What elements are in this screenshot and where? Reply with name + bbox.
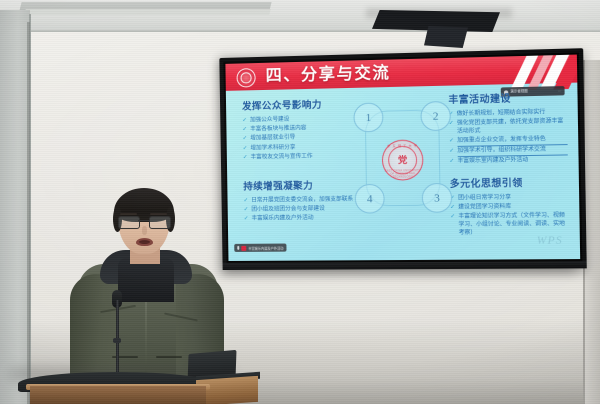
bullet-text: 加强公众号建设 [250, 115, 356, 125]
university-seal-icon [236, 68, 255, 88]
bullet-text: 增加学术科研分享 [250, 143, 356, 152]
bullet-text: 做好长期规划，短期结合实际实行 [457, 109, 568, 119]
bullet-item: ✓ 强化党团支部共建，依托党支部资源丰富活动形式 [449, 118, 568, 136]
column-title: 发挥公众号影响力 [242, 99, 356, 114]
bullet-item: ✓ 丰富校友交流与宣传工作 [243, 152, 356, 162]
eyeglass-lens-right [149, 216, 171, 229]
bullet-item: ✓ 丰富各板块与推送内容 [242, 125, 355, 135]
bullet-item: ✓ 加强学术引导，组织科研学术交流 [449, 146, 568, 157]
column-title: 多元化思想引领 [450, 177, 569, 191]
slide-column-top-right: 丰富活动建设 ✓ 做好长期规划，短期结合实际实行 ✓ 强化党团支部共建，依托党支… [448, 92, 568, 168]
presenter-nose [142, 226, 147, 235]
slide-column-bottom-left: 持续增强凝聚力 ✓ 日常开展党团支委交流会，加强支部联系 ✓ 团小组及班团分会与… [243, 180, 357, 225]
bullet-text: 团小组日常学习分享 [458, 194, 569, 203]
jacket-pocket-right [156, 356, 182, 358]
bullet-item: ✓ 加强公众号建设 [242, 115, 355, 125]
chip-label: 丰富娱乐内建及户外活动 [248, 245, 283, 250]
check-icon: ✓ [243, 136, 248, 144]
slide-column-top-left: 发挥公众号影响力 ✓ 加强公众号建设 ✓ 丰富各板块与推送内容 ✓ 增加基层就业… [242, 99, 356, 164]
presenter-eyebrow [150, 213, 167, 215]
microphone-joint [113, 338, 121, 343]
slide-watermark: WPS [537, 234, 563, 247]
check-icon: ✓ [244, 207, 249, 215]
presenter-eyebrow [120, 213, 137, 215]
chip-badge [241, 245, 246, 250]
bullet-item: ✓ 加强重点企业交流，发挥专业特色 [449, 136, 568, 147]
column-title: 丰富活动建设 [448, 92, 567, 107]
bullet-text: 丰富各板块与推送内容 [250, 125, 356, 135]
bullet-item: ✓ 丰富娱乐室内建及户外活动 [449, 157, 568, 167]
bullet-item: ✓ 日常开展党团支委交流会，加强支部联系 [243, 196, 356, 205]
left-wall [0, 10, 30, 404]
center-diagram: 1 2 3 4 华 东 理 工 大 学 党 EAST CHINA UNIVERS… [351, 93, 452, 221]
diagram-node-4: 4 [355, 184, 385, 214]
slide-column-bottom-right: 多元化思想引领 ✓ 团小组日常学习分享 ✓ 建设党团学习资料库 ✓ 丰富理论知识… [450, 177, 569, 239]
slide-status-chip[interactable]: 丰富娱乐内建及户外活动 [234, 244, 286, 252]
seal-arc-top-text: 华 东 理 工 大 学 [383, 142, 422, 148]
wall-display[interactable]: 四、分享与交流 演示者视图 ··· 发挥公众号影响力 [219, 48, 586, 270]
bullet-text: 加强学术引导，组织科研学术交流 [457, 146, 568, 157]
bullet-item: ✓ 增加基层就业引导 [243, 134, 356, 144]
bullet-item: ✓ 丰富娱乐内建及户外活动 [244, 215, 357, 224]
ceiling-air-vent-inner [24, 9, 270, 15]
bullet-item: ✓ 团小组日常学习分享 [450, 194, 569, 203]
bullet-text: 丰富娱乐室内建及户外活动 [457, 157, 568, 167]
bullet-item: ✓ 增加学术科研分享 [243, 143, 356, 153]
podium-body [30, 386, 206, 404]
seal-arc-bottom-text: EAST CHINA UNIVERSITY OF SCIENCE AND TEC… [383, 168, 422, 178]
check-icon: ✓ [242, 127, 247, 135]
check-icon: ✓ [243, 198, 248, 206]
right-wall-column [585, 60, 600, 404]
diagram-node-3: 3 [422, 183, 453, 213]
presentation-slide: 四、分享与交流 演示者视图 ··· 发挥公众号影响力 [225, 55, 580, 261]
header-stripes-decoration [504, 55, 577, 91]
bullet-item: ✓ 团小组及班团分会与支部建设 [244, 206, 357, 215]
projector-mount-arm [424, 26, 468, 48]
eyeglass-lens-left [118, 216, 140, 229]
bullet-text: 强化党团支部共建，依托党支部资源丰富活动形式 [457, 118, 568, 136]
check-icon: ✓ [243, 154, 248, 162]
display-screen[interactable]: 四、分享与交流 演示者视图 ··· 发挥公众号影响力 [225, 55, 580, 261]
diagram-node-2: 2 [420, 101, 451, 131]
presenter-mouth [136, 238, 153, 246]
column-title: 持续增强凝聚力 [243, 180, 357, 194]
bullet-text: 增加基层就业引导 [250, 134, 356, 144]
bullet-text: 丰富娱乐内建及户外活动 [251, 215, 357, 224]
circle-dot-icon [237, 246, 239, 249]
university-seal-large-icon: 华 东 理 工 大 学 党 EAST CHINA UNIVERSITY OF S… [382, 139, 424, 180]
check-icon: ✓ [242, 117, 247, 125]
bullet-text: 团小组及班团分会与支部建设 [251, 206, 357, 215]
check-icon: ✓ [243, 145, 248, 153]
bullet-text: 建设党团学习资料库 [458, 203, 569, 212]
bullet-text: 丰富校友交流与宣传工作 [250, 152, 356, 161]
bullet-item: ✓ 建设党团学习资料库 [450, 203, 569, 212]
slide-title: 四、分享与交流 [265, 63, 390, 87]
check-icon: ✓ [244, 216, 249, 224]
presenter-shirt [118, 258, 174, 302]
bullet-text: 日常开展党团支委交流会，加强支部联系 [251, 196, 357, 205]
presenter-mouth-inner [139, 240, 150, 244]
eyeglass-bridge [138, 220, 149, 221]
wall-panel-seam [27, 22, 30, 404]
bullet-text: 加强重点企业交流，发挥专业特色 [457, 136, 568, 147]
seal-center-glyph: 党 [383, 150, 423, 171]
lecture-room-scene: 四、分享与交流 演示者视图 ··· 发挥公众号影响力 [0, 0, 600, 404]
